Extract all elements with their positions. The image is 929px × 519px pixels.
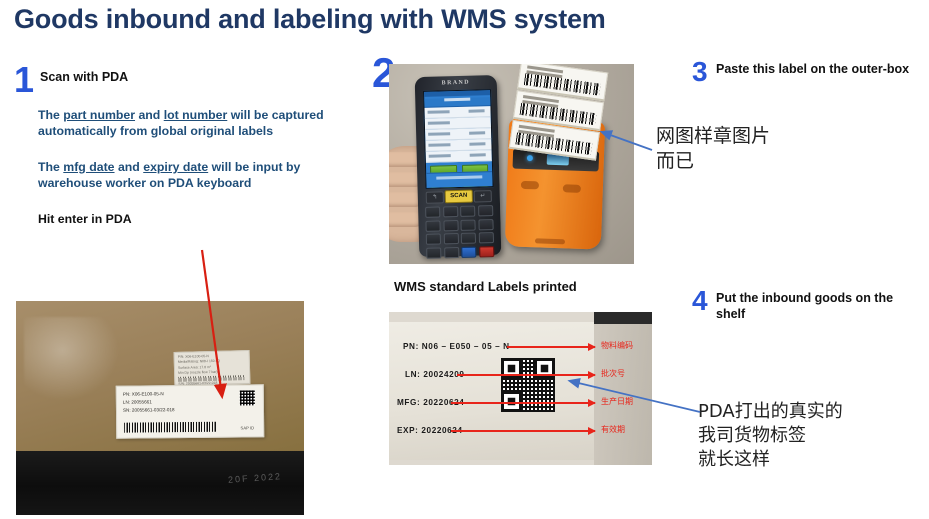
step-number-3: 3 — [692, 58, 708, 86]
step-3-heading: Paste this label on the outer-box — [716, 62, 922, 78]
printed-label-cn-tag-ln: 批次号 — [601, 368, 625, 379]
pda-key — [461, 219, 476, 230]
photo-carton-with-original-label: 20F 2022 P/N: X06-E100-05-N Media/Rating… — [16, 301, 304, 515]
red-arrow-mfg — [451, 402, 595, 404]
slide-canvas: Goods inbound and labeling with WMS syst… — [0, 0, 929, 519]
printed-label-mfg-key: MFG: — [397, 398, 420, 407]
printed-label-cn-tag-pn: 物料编码 — [601, 340, 633, 351]
p2-underline-expiry-date: expiry date — [143, 160, 208, 174]
p2-prefix: The — [38, 160, 63, 174]
printer-foot — [535, 238, 565, 244]
pda-key — [443, 220, 458, 231]
step-1-paragraph-1: The part number and lot number will be c… — [38, 108, 358, 139]
pda-enter-key: ↵ — [474, 190, 492, 202]
step-number-4: 4 — [692, 287, 708, 315]
pda-key — [444, 247, 459, 258]
pda-key — [461, 233, 476, 244]
p1-underline-lot-number: lot number — [164, 108, 228, 122]
pda-key — [460, 206, 475, 217]
printer-button — [521, 181, 539, 190]
pda-key — [478, 219, 493, 230]
label-photo-side — [594, 312, 652, 465]
carton-label-sn: SN: 20055661-03/22-018 — [123, 405, 257, 414]
photo-printed-wms-label: PN: N06 – E050 – 05 – N LN: 20024209 MFG… — [389, 312, 652, 465]
pda-key — [478, 205, 493, 216]
carton-dark-foreground: 20F 2022 — [16, 451, 304, 515]
pda-key — [443, 233, 458, 244]
pda-key — [425, 206, 440, 217]
pda-key — [479, 232, 494, 243]
p1-underline-part-number: part number — [63, 108, 135, 122]
printed-label-pn-key: PN: — [403, 342, 419, 351]
step-1-paragraph-2: The mfg date and expiry date will be inp… — [38, 160, 358, 191]
pda-keypad — [425, 205, 494, 258]
p1-prefix: The — [38, 108, 63, 122]
printed-label-cn-tag-mfg: 生产日期 — [601, 396, 633, 407]
original-global-label: P/N: X06-E100-05-N Media/Rating: N08-I 1… — [174, 350, 251, 386]
pda-key — [426, 233, 441, 244]
step-number-1: 1 — [14, 62, 34, 98]
screen-field-row — [426, 150, 492, 163]
screen-status-bar — [424, 90, 490, 97]
pda-key-red — [479, 246, 494, 257]
p2-mid: and — [115, 160, 144, 174]
printed-label-exp-key: EXP: — [397, 426, 419, 435]
printed-label-pn-value: N06 – E050 – 05 – N — [422, 342, 510, 351]
printer-button — [563, 184, 581, 193]
wms-labels-printed-caption: WMS standard Labels printed — [394, 279, 577, 294]
page-title: Goods inbound and labeling with WMS syst… — [14, 4, 714, 35]
step-1-final-line: Hit enter in PDA — [38, 212, 132, 226]
step-1-heading: Scan with PDA — [40, 70, 128, 86]
printer-led-icon — [527, 155, 533, 161]
printed-label-ln-key: LN: — [405, 370, 420, 379]
pda-back-key: ↰ — [426, 191, 444, 203]
carton-box-text: 20F 2022 — [228, 471, 283, 485]
label-photo-top-shadow — [594, 312, 652, 324]
printed-label-ln-row: LN: 20024209 — [405, 370, 465, 379]
pda-scan-key: SCAN — [445, 190, 473, 204]
pda-key — [443, 206, 458, 217]
pda-key — [426, 247, 441, 258]
photo-pda-and-printer: BRAND ↰ SC — [389, 64, 634, 264]
printed-label-cn-tag-exp: 有效期 — [601, 424, 625, 435]
p1-mid: and — [135, 108, 164, 122]
pda-screen — [423, 89, 494, 189]
red-arrow-ln — [457, 374, 595, 376]
red-arrow-pn — [507, 346, 595, 348]
annotation-note-top-right: 网图样章图片 而已 — [656, 124, 770, 174]
carton-smudge — [24, 317, 120, 401]
pda-key — [425, 220, 440, 231]
qr-code-icon — [240, 390, 255, 405]
carton-label-sap-id: SAP ID — [240, 424, 254, 431]
printed-label-strip — [510, 64, 607, 154]
carton-label-barcode — [124, 422, 216, 433]
p2-underline-mfg-date: mfg date — [63, 160, 114, 174]
red-arrow-exp — [451, 430, 595, 432]
pda-nav-key-row: ↰ SCAN ↵ — [426, 189, 492, 204]
annotation-note-bottom-right: PDA打出的真实的 我司货物标签 就长这样 — [698, 400, 843, 471]
screen-footer-bar — [426, 171, 492, 188]
pda-brand-label: BRAND — [415, 79, 497, 87]
carton-wms-label: PN: X06-E100-05-N LN: 20055661 SN: 20055… — [116, 384, 265, 439]
pda-device: BRAND ↰ SC — [415, 75, 502, 257]
printed-label-pn-row: PN: N06 – E050 – 05 – N — [403, 342, 510, 351]
step-4-heading: Put the inbound goods on the shelf — [716, 291, 922, 322]
pda-key-blue — [461, 246, 476, 257]
